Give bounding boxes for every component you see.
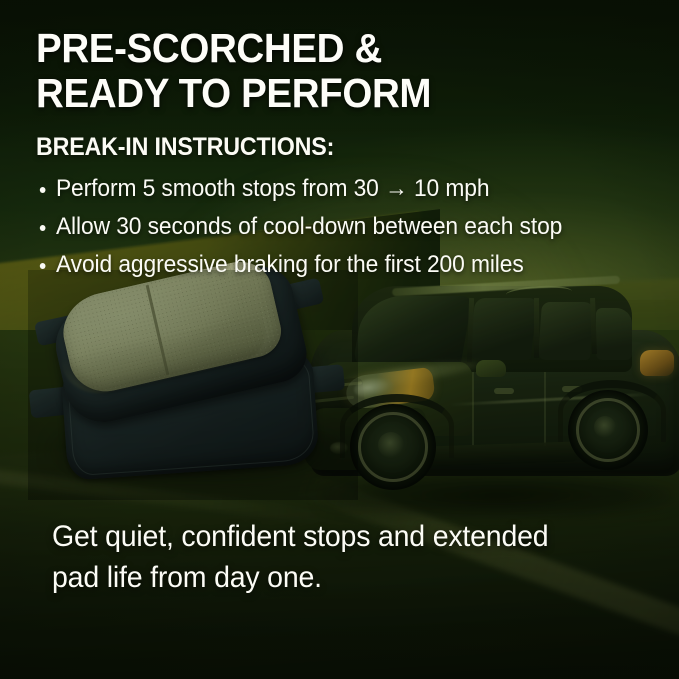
side-mirror: [476, 360, 506, 377]
rear-wheel-hub: [594, 416, 616, 438]
list-item: Perform 5 smooth stops from 30 → 10 mph: [36, 170, 562, 208]
page-title: PRE-SCORCHED & READY TO PERFORM: [36, 26, 431, 116]
break-in-instructions-list: Perform 5 smooth stops from 30 → 10 mph …: [36, 170, 590, 284]
taillight: [640, 350, 674, 376]
rear-door-window: [538, 302, 594, 360]
door-shut-line: [472, 372, 474, 446]
quarter-window: [596, 308, 632, 360]
c-pillar: [534, 298, 539, 358]
product-feature-poster: PRE-SCORCHED & READY TO PERFORM BREAK-IN…: [0, 0, 679, 679]
brake-pad-product: [28, 270, 358, 500]
list-item: Allow 30 seconds of cool-down between ea…: [36, 208, 562, 246]
headline-line-2: READY TO PERFORM: [36, 70, 431, 116]
front-wheel-hub: [378, 432, 404, 458]
tagline: Get quiet, confident stops and extended …: [52, 516, 548, 598]
door-handle: [494, 388, 514, 394]
door-shut-line: [544, 372, 546, 446]
section-heading: BREAK-IN INSTRUCTIONS:: [36, 132, 334, 162]
front-door-window: [469, 298, 538, 360]
list-item: Avoid aggressive braking for the first 2…: [36, 246, 562, 284]
tagline-line-1: Get quiet, confident stops and extended: [52, 520, 548, 553]
headline-line-1: PRE-SCORCHED &: [36, 25, 382, 71]
tagline-line-2: pad life from day one.: [52, 561, 322, 594]
